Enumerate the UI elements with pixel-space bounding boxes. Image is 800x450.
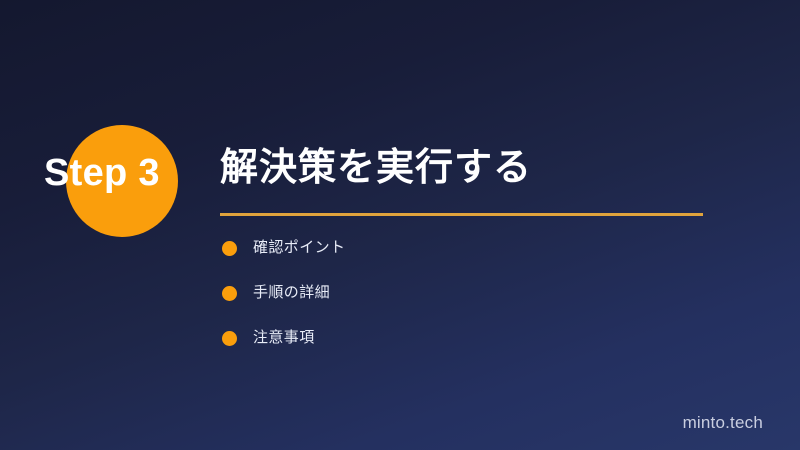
bullet-item-label: 確認ポイント	[253, 238, 345, 258]
bullet-dot-icon	[222, 241, 237, 256]
list-item: 手順の詳細	[220, 283, 720, 328]
bullet-item-label: 注意事項	[253, 328, 315, 348]
bullet-dot-icon	[222, 286, 237, 301]
step-label: Step 3	[44, 150, 219, 196]
title-divider	[220, 213, 703, 216]
list-item: 確認ポイント	[220, 238, 720, 283]
bullet-list: 確認ポイント 手順の詳細 注意事項	[220, 238, 720, 373]
slide-title: 解決策を実行する	[220, 143, 532, 193]
slide-canvas: Step 3 解決策を実行する 確認ポイント 手順の詳細 注意事項 minto.…	[0, 0, 800, 450]
bullet-dot-icon	[222, 331, 237, 346]
list-item: 注意事項	[220, 328, 720, 373]
bullet-item-label: 手順の詳細	[253, 283, 330, 303]
footer-brand: minto.tech	[683, 413, 763, 433]
